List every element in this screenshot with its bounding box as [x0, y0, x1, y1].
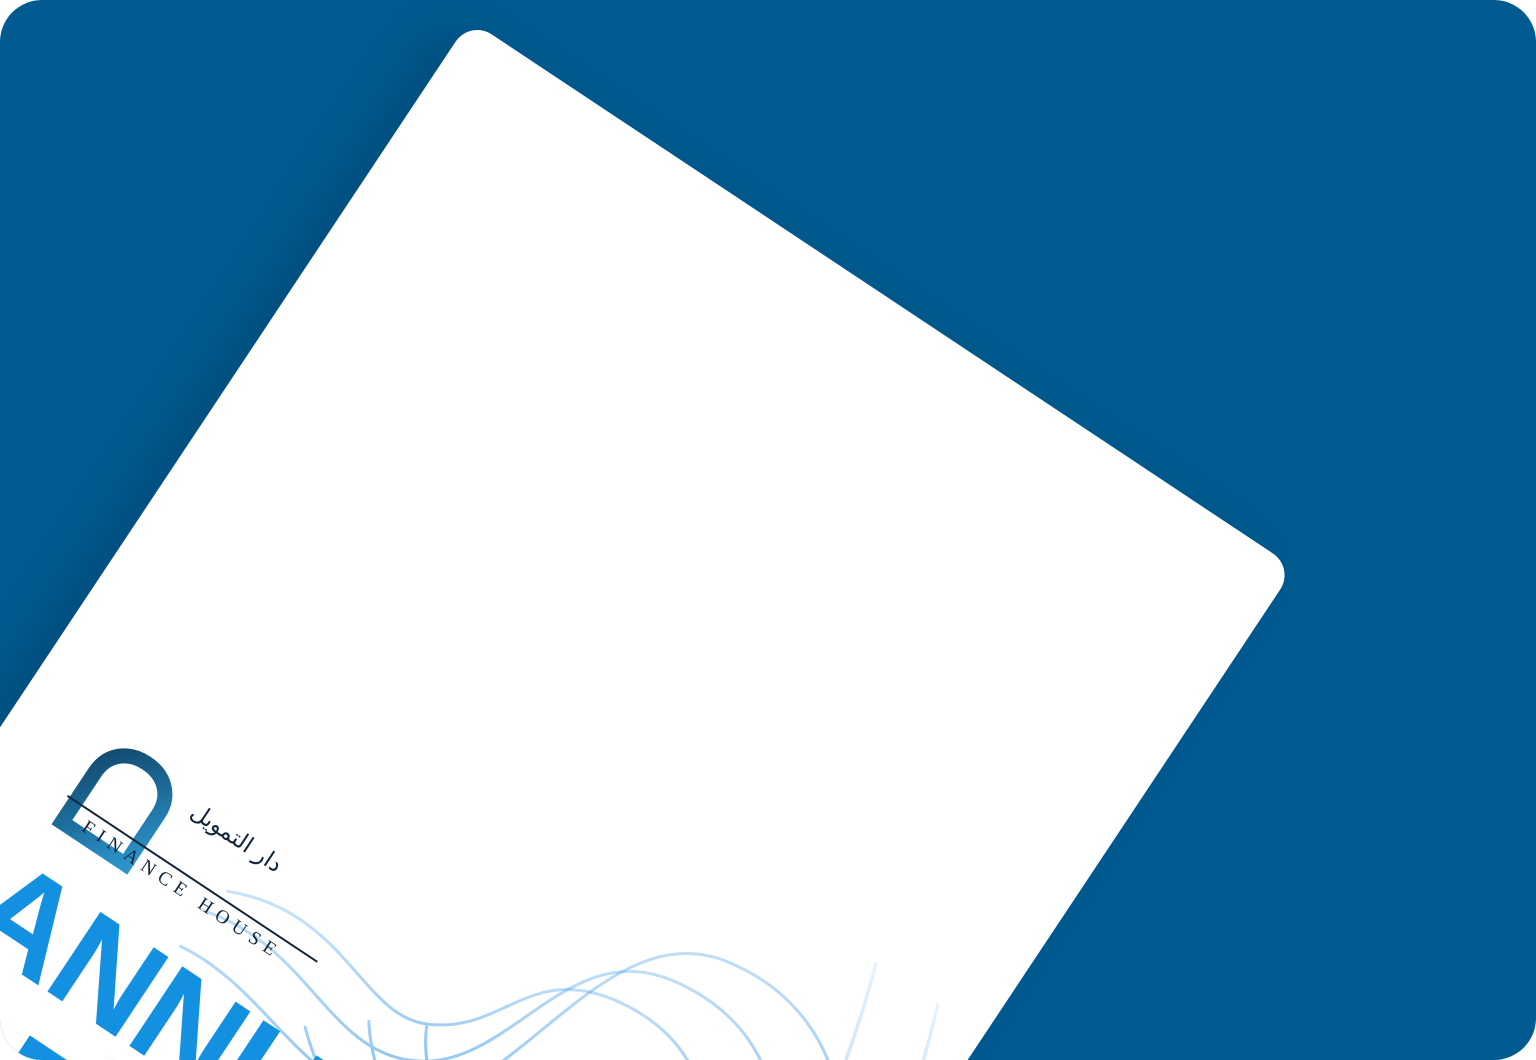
cover-clip-region: دار التمويل FINANCE HOUSE ANNUAL REPORT …: [0, 0, 1536, 1060]
logo-arabic-name: دار التمويل: [186, 799, 287, 878]
report-cover-scene: دار التمويل FINANCE HOUSE ANNUAL REPORT …: [0, 0, 1536, 1060]
annual-report-cover[interactable]: دار التمويل FINANCE HOUSE ANNUAL REPORT …: [0, 20, 1295, 1060]
